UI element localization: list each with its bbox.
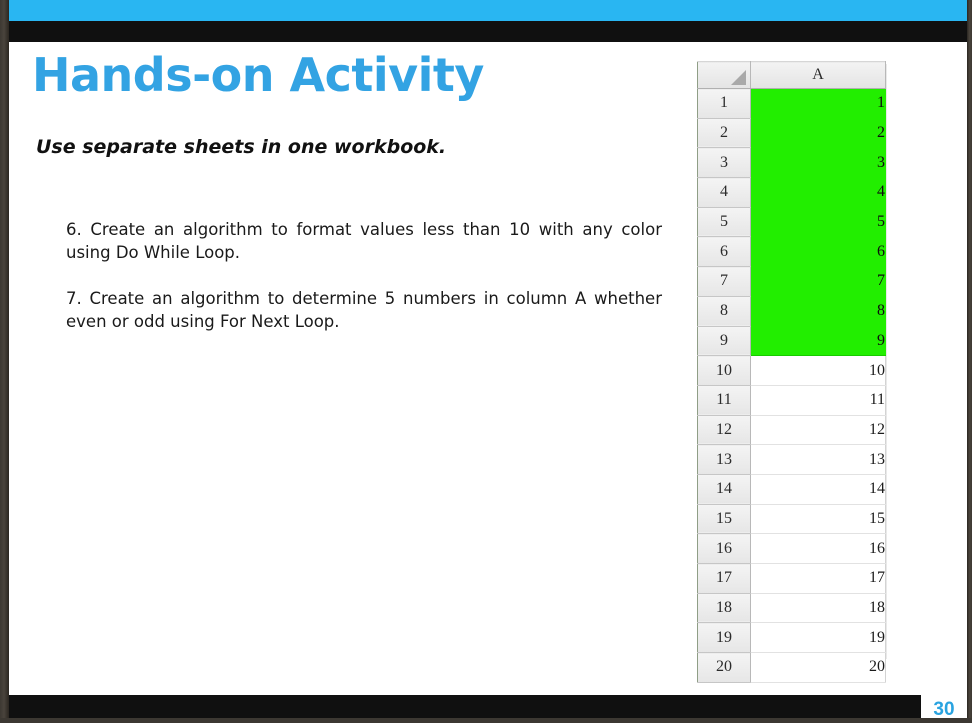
select-all-corner[interactable] <box>698 62 751 89</box>
cell-a17[interactable]: 17 <box>751 564 886 594</box>
activity-item-6: 6. Create an algorithm to format values … <box>66 219 662 264</box>
row-header-12[interactable]: 12 <box>698 415 751 445</box>
cell-a7[interactable]: 7 <box>751 267 886 297</box>
spreadsheet-row: 55 <box>698 207 886 237</box>
row-header-6[interactable]: 6 <box>698 237 751 267</box>
row-header-11[interactable]: 11 <box>698 385 751 415</box>
row-header-17[interactable]: 17 <box>698 564 751 594</box>
spreadsheet-grid: A 11223344556677889910101111121213131414… <box>697 61 886 683</box>
row-header-2[interactable]: 2 <box>698 118 751 148</box>
row-header-1[interactable]: 1 <box>698 89 751 119</box>
spreadsheet-row: 1313 <box>698 445 886 475</box>
cell-a20[interactable]: 20 <box>751 653 886 683</box>
spreadsheet-row: 99 <box>698 326 886 356</box>
cell-a9[interactable]: 9 <box>751 326 886 356</box>
page-title: Hands-on Activity <box>32 48 484 102</box>
cell-a14[interactable]: 14 <box>751 474 886 504</box>
spreadsheet-row: 1818 <box>698 593 886 623</box>
row-header-3[interactable]: 3 <box>698 148 751 178</box>
spreadsheet-row: 1515 <box>698 504 886 534</box>
spreadsheet-row: 1919 <box>698 623 886 653</box>
cell-a16[interactable]: 16 <box>751 534 886 564</box>
slide-canvas: Hands-on Activity Use separate sheets in… <box>0 0 972 723</box>
slide-frame-bottom-edge <box>0 718 972 723</box>
cell-a8[interactable]: 8 <box>751 296 886 326</box>
spreadsheet-row: 1010 <box>698 356 886 386</box>
spreadsheet-screenshot: A 11223344556677889910101111121213131414… <box>697 61 886 683</box>
cell-a11[interactable]: 11 <box>751 385 886 415</box>
header-accent-bar <box>9 0 967 21</box>
spreadsheet-row: 44 <box>698 178 886 208</box>
row-header-8[interactable]: 8 <box>698 296 751 326</box>
slide-frame-left-edge <box>0 0 9 723</box>
row-header-15[interactable]: 15 <box>698 504 751 534</box>
spreadsheet-row: 1717 <box>698 564 886 594</box>
cell-a18[interactable]: 18 <box>751 593 886 623</box>
spreadsheet-row: 1414 <box>698 474 886 504</box>
spreadsheet-row: 33 <box>698 148 886 178</box>
page-number-text: 30 <box>933 700 954 719</box>
row-header-19[interactable]: 19 <box>698 623 751 653</box>
spreadsheet-row: 88 <box>698 296 886 326</box>
cell-a1[interactable]: 1 <box>751 89 886 119</box>
spreadsheet-row: 66 <box>698 237 886 267</box>
row-header-7[interactable]: 7 <box>698 267 751 297</box>
spreadsheet-header-row: A <box>698 62 886 89</box>
cell-a19[interactable]: 19 <box>751 623 886 653</box>
header-dark-bar <box>9 21 967 42</box>
slide-frame-right-edge <box>967 0 972 723</box>
row-header-18[interactable]: 18 <box>698 593 751 623</box>
column-header-a[interactable]: A <box>751 62 886 89</box>
cell-a3[interactable]: 3 <box>751 148 886 178</box>
row-header-13[interactable]: 13 <box>698 445 751 475</box>
page-subtitle: Use separate sheets in one workbook. <box>36 136 446 158</box>
cell-a6[interactable]: 6 <box>751 237 886 267</box>
cell-a13[interactable]: 13 <box>751 445 886 475</box>
row-header-20[interactable]: 20 <box>698 653 751 683</box>
cell-a12[interactable]: 12 <box>751 415 886 445</box>
row-header-4[interactable]: 4 <box>698 178 751 208</box>
spreadsheet-row: 22 <box>698 118 886 148</box>
row-header-9[interactable]: 9 <box>698 326 751 356</box>
spreadsheet-row: 2020 <box>698 653 886 683</box>
cell-a5[interactable]: 5 <box>751 207 886 237</box>
cell-a4[interactable]: 4 <box>751 178 886 208</box>
footer-dark-bar <box>9 695 967 720</box>
cell-a2[interactable]: 2 <box>751 118 886 148</box>
row-header-5[interactable]: 5 <box>698 207 751 237</box>
spreadsheet-row: 1111 <box>698 385 886 415</box>
cell-a15[interactable]: 15 <box>751 504 886 534</box>
spreadsheet-row: 77 <box>698 267 886 297</box>
row-header-14[interactable]: 14 <box>698 474 751 504</box>
select-all-triangle-icon <box>731 70 746 85</box>
row-header-10[interactable]: 10 <box>698 356 751 386</box>
spreadsheet-body: 1122334455667788991010111112121313141415… <box>698 89 886 683</box>
spreadsheet-row: 1212 <box>698 415 886 445</box>
cell-a10[interactable]: 10 <box>751 356 886 386</box>
spreadsheet-row: 1616 <box>698 534 886 564</box>
row-header-16[interactable]: 16 <box>698 534 751 564</box>
activity-item-7: 7. Create an algorithm to determine 5 nu… <box>66 288 662 333</box>
spreadsheet-row: 11 <box>698 89 886 119</box>
